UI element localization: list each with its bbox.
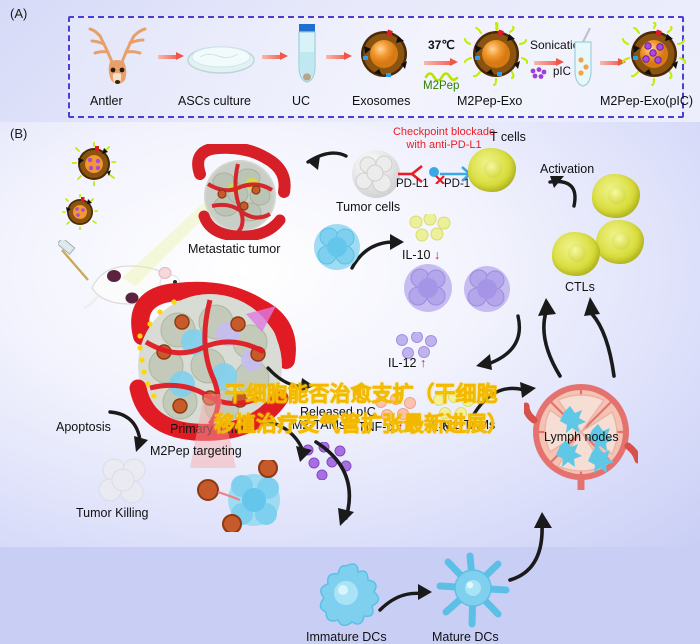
m2-tams-illustration xyxy=(402,262,454,314)
tumor-killing-illustration xyxy=(94,452,154,512)
t-cells-label: T cells xyxy=(490,130,526,144)
m1-tams-illustration xyxy=(462,264,512,314)
tnf-alpha-trend: ↑ xyxy=(397,420,403,434)
tnf-alpha-name: TNF-α xyxy=(358,420,394,434)
m2pep-label: M2Pep xyxy=(423,80,459,92)
arrow-lymph-to-ctls-left xyxy=(528,294,568,378)
pic-label: pIC xyxy=(553,66,571,78)
il-10-trend: ↓ xyxy=(434,248,440,262)
il-10-label: IL-10 ↓ xyxy=(402,248,440,262)
m2pep-targeting-label: M2Pep targeting xyxy=(150,444,242,458)
checkpoint-line2: with anti-PD-L1 xyxy=(406,139,481,151)
scientific-figure: (A) xyxy=(0,0,700,547)
ctls-label: CTLs xyxy=(565,280,595,294)
pic-dots-icon xyxy=(530,66,550,78)
nanoparticle-icon xyxy=(62,194,98,230)
arrow-exosomes-to-m2pep-exo xyxy=(424,58,458,67)
arrow-immature-to-mature-dc xyxy=(378,582,434,618)
tumor-cells-label: Tumor cells xyxy=(336,200,400,214)
step-label-uc: UC xyxy=(292,94,310,108)
il-6-trend: ↑ xyxy=(453,420,459,434)
step-label-m2pep-exo: M2Pep-Exo xyxy=(457,94,522,108)
checkpoint-line1: Checkpoint blockade xyxy=(393,126,495,138)
t-cell-nucleus xyxy=(612,232,630,250)
arrow-culture-to-uc xyxy=(262,52,288,61)
panel-b-letter: (B) xyxy=(10,126,27,141)
mature-dcs-label: Mature DCs xyxy=(432,630,499,644)
arrow-m2tams-to-m1tams xyxy=(266,362,316,396)
step-label-asc-culture: ASCs culture xyxy=(178,94,251,108)
lymph-nodes-label: Lymph nodes xyxy=(544,430,619,444)
sonicator-tube xyxy=(570,28,596,90)
panel-a: (A) xyxy=(0,0,700,122)
arrow-antler-to-culture xyxy=(158,52,184,61)
uc-tube xyxy=(296,22,318,86)
panel-a-letter: (A) xyxy=(10,6,27,21)
released-pic-label: Released pIC xyxy=(300,405,376,419)
blue-immune-cell xyxy=(312,222,362,272)
pd-l1-label: PD-L1 xyxy=(396,178,429,190)
arrow-tumor-to-m2pep-targeting xyxy=(262,418,320,468)
ctl-cell-nucleus xyxy=(568,244,586,262)
exosome-particle xyxy=(358,28,410,80)
il-6-name: IL-6 xyxy=(428,420,450,434)
antler-illustration xyxy=(82,22,154,90)
m2pep-exo-particle xyxy=(464,22,528,86)
step-label-antler: Antler xyxy=(90,94,123,108)
temperature-label: 37℃ xyxy=(428,38,455,52)
arrow-uc-to-exosomes xyxy=(326,52,352,61)
step-label-exosomes: Exosomes xyxy=(352,94,410,108)
nanoparticle-icon xyxy=(72,142,116,186)
immature-dc-illustration xyxy=(310,560,382,626)
metastatic-tumor-label: Metastatic tumor xyxy=(188,242,280,256)
panel-b: (B) xyxy=(0,122,700,547)
il-12-name: IL-12 xyxy=(388,356,417,370)
arrow-to-m1tams xyxy=(462,312,526,376)
asc-culture-dish xyxy=(186,40,256,80)
il-10-name: IL-10 xyxy=(402,248,431,262)
t-cell-nucleus xyxy=(484,160,502,178)
il-12-trend: ↑ xyxy=(420,356,426,370)
tumor-cells-texture xyxy=(352,150,400,198)
il-6-label: IL-6 ↑ xyxy=(428,420,459,434)
pd-1-label: PD-1 xyxy=(444,178,470,190)
t-cell-nucleus xyxy=(608,186,626,204)
il-10-particles xyxy=(408,214,454,244)
arrow-activation xyxy=(518,156,582,210)
arrow-lymph-to-ctls-right xyxy=(572,294,618,378)
arrow-pic-to-immature-dc xyxy=(312,438,372,554)
apoptosis-label: Apoptosis xyxy=(56,420,111,434)
immature-dcs-label: Immature DCs xyxy=(306,630,387,644)
il-12-label: IL-12 ↑ xyxy=(388,356,426,370)
step-label-m2pep-exo-pic: M2Pep-Exo(pIC) xyxy=(600,94,693,108)
arrow-tumorcells-to-metastatic xyxy=(278,150,348,188)
tumor-killing-label: Tumor Killing xyxy=(76,506,148,520)
tnf-alpha-label: TNF-α ↑ xyxy=(358,420,403,434)
m2pep-targeting-illustration xyxy=(196,460,288,532)
m2pep-exo-pic-particle xyxy=(622,22,686,86)
arrow-apoptosis xyxy=(108,410,156,458)
arrow-mature-dc-to-lymph xyxy=(500,512,558,584)
